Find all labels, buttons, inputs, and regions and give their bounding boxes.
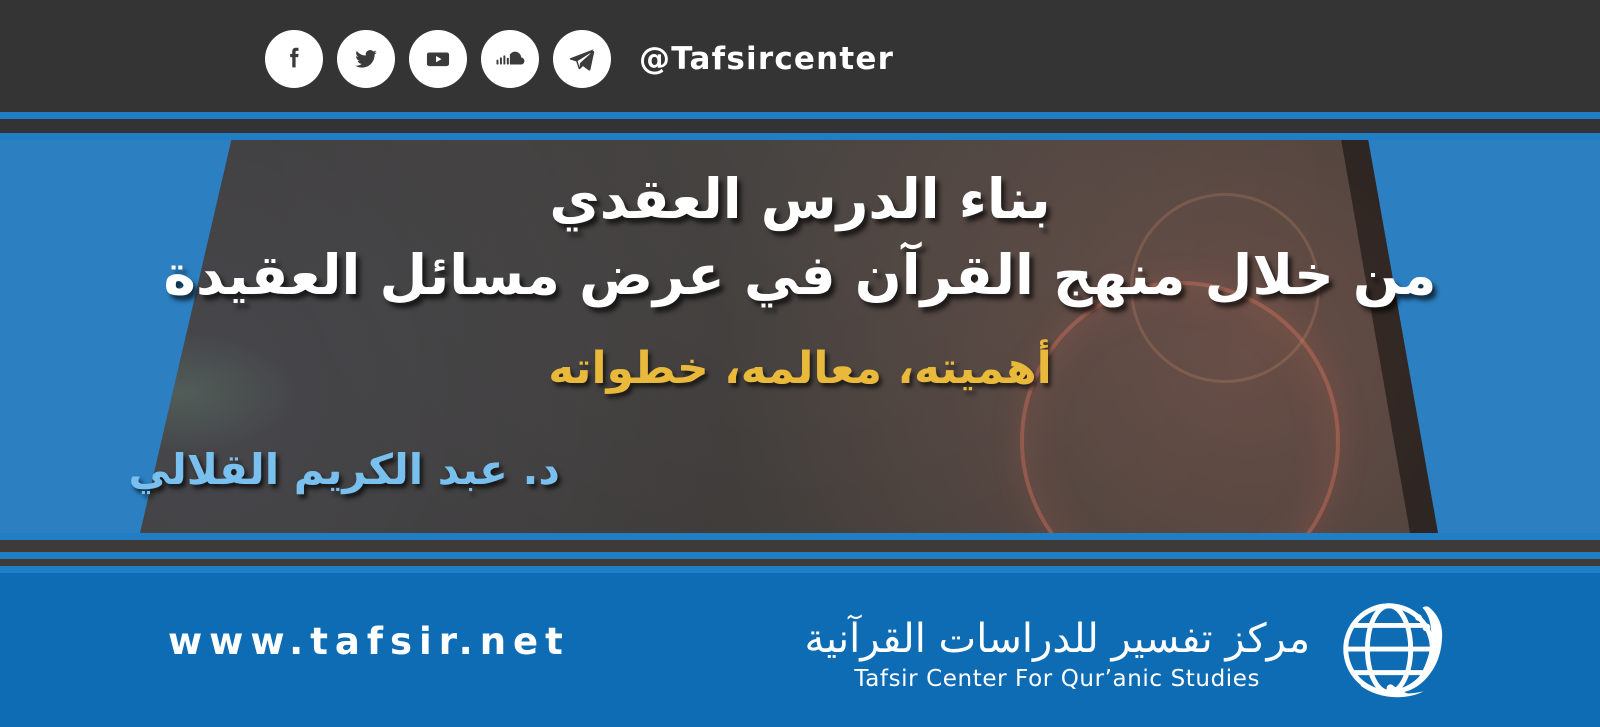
social-icon-row: @Tafsircenter [265, 0, 894, 118]
divider-rule-bottom-3 [0, 566, 1600, 573]
divider-rule-bottom-1 [0, 533, 1600, 540]
telegram-icon[interactable] [553, 30, 611, 88]
twitter-icon[interactable] [337, 30, 395, 88]
divider-rule-top-1 [0, 112, 1600, 119]
poster-author-name: د. عبد الكريم القلالي [129, 445, 560, 494]
tafsir-promo-banner: @Tafsircenter بناء الدرس العقدي من خلال … [0, 0, 1600, 727]
tafsir-globe-logo [1332, 592, 1450, 714]
poster-text-block: بناء الدرس العقدي من خلال منهج القرآن في… [0, 133, 1600, 563]
poster-subtitle: أهميته، معالمه، خطواته [0, 345, 1600, 393]
brand-text-group: مركز تفسير للدراسات القرآنية Tafsir Cent… [804, 614, 1310, 692]
poster-stage: بناء الدرس العقدي من خلال منهج القرآن في… [0, 133, 1600, 563]
divider-rule-bottom-2 [0, 552, 1600, 559]
poster-title-line-1: بناء الدرس العقدي [0, 169, 1600, 230]
soundcloud-icon[interactable] [481, 30, 539, 88]
brand-lockup: مركز تفسير للدراسات القرآنية Tafsir Cent… [804, 592, 1450, 714]
divider-rule-top-2 [0, 133, 1600, 140]
facebook-icon[interactable] [265, 30, 323, 88]
brand-name-english: Tafsir Center For Qur’anic Studies [854, 666, 1260, 692]
youtube-icon[interactable] [409, 30, 467, 88]
social-topbar: @Tafsircenter [0, 0, 1600, 118]
website-url[interactable]: www.tafsir.net [168, 620, 570, 663]
bottom-divider [0, 533, 1600, 573]
poster-title-line-2: من خلال منهج القرآن في عرض مسائل العقيدة [0, 245, 1600, 306]
top-divider [0, 112, 1600, 142]
brand-name-arabic: مركز تفسير للدراسات القرآنية [804, 614, 1310, 664]
social-handle-label: @Tafsircenter [639, 41, 894, 77]
footer-bar: www.tafsir.net مركز تفسير للدراسات القرآ… [0, 570, 1600, 727]
